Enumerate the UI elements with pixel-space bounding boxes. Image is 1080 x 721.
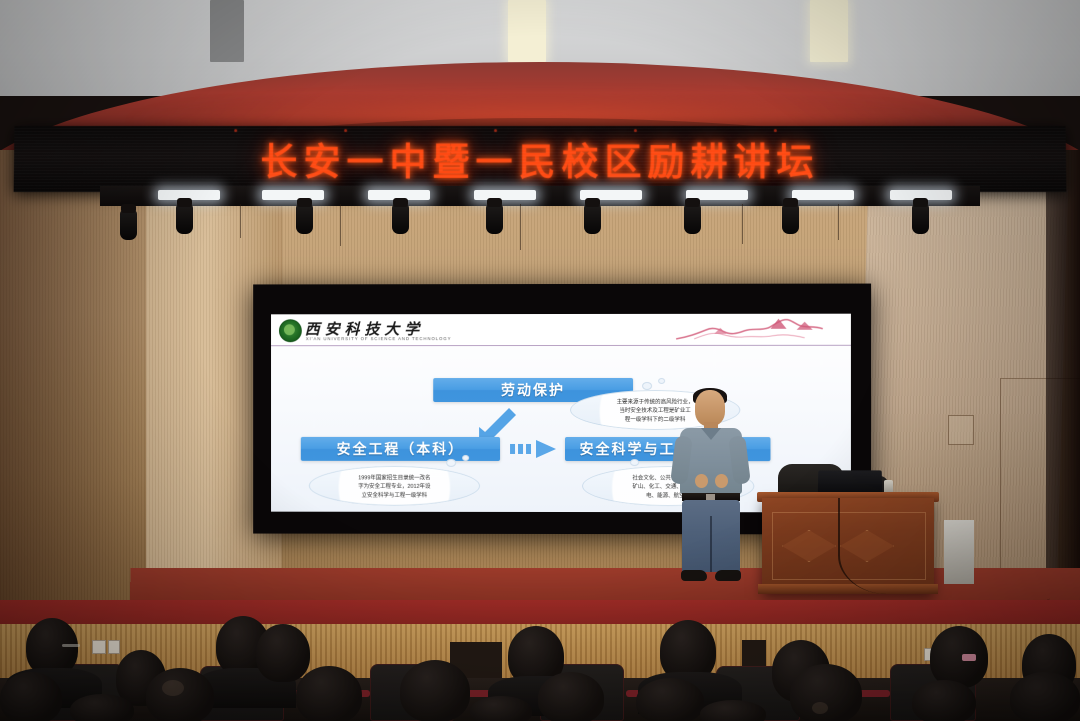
wall-switch (108, 640, 120, 654)
audience-head (470, 696, 532, 721)
audience-head (146, 668, 214, 721)
presenter-right-hand (715, 474, 728, 488)
presenter-right-shoe (715, 570, 741, 581)
callout-bubble (642, 382, 652, 390)
presenter (665, 390, 759, 585)
callout-line: 立安全科学与工程一级学科 (295, 490, 494, 499)
wall-access-panel (948, 415, 974, 445)
audience-head (930, 626, 988, 688)
floor-speaker (944, 520, 974, 584)
led-banner-text: 长安一中暨一民校区励耕讲坛 (14, 132, 1067, 186)
stage-spotlight (782, 204, 799, 234)
presentation-slide: 西安科技大学 XI'AN UNIVERSITY OF SCIENCE AND T… (271, 314, 851, 513)
audience-glasses-icon (62, 644, 80, 647)
stage-spotlight (296, 204, 313, 234)
stage-spotlight (584, 204, 601, 234)
audience-head (70, 694, 134, 721)
mountain-decoration-icon (674, 317, 825, 343)
podium-cable (838, 498, 960, 594)
spotlight-cable (742, 204, 743, 244)
auditorium-photo: 长安一中暨一民校区励耕讲坛 西安科技大学 XI'AN UNIVERSITY OF… (0, 0, 1080, 721)
led-banner: 长安一中暨一民校区励耕讲坛 (14, 126, 1067, 192)
truss-led-strip (474, 190, 536, 200)
spotlight-cable (340, 204, 341, 246)
hair-clip (962, 654, 976, 661)
slide-box-safety-engineering: 安全工程（本科） (301, 437, 500, 461)
audience-head (296, 666, 362, 721)
stage-right-curtain-edge (1046, 150, 1080, 620)
university-name-en: XI'AN UNIVERSITY OF SCIENCE AND TECHNOLO… (306, 336, 452, 342)
audience-upper-wall (0, 600, 1080, 626)
ceiling-panel-dark (210, 0, 244, 62)
university-logo-icon (279, 319, 302, 342)
audience-head (538, 672, 604, 721)
stage-spotlight (684, 204, 701, 234)
ceiling-light-panel (508, 0, 546, 62)
slide-header: 西安科技大学 XI'AN UNIVERSITY OF SCIENCE AND T… (271, 314, 851, 347)
stage-spotlight (176, 204, 193, 234)
audience-head (0, 672, 62, 721)
audience-head-highlight (812, 702, 828, 714)
audience-head (700, 700, 766, 721)
audience-head (256, 624, 310, 682)
stage-spotlight (486, 204, 503, 234)
wall-switch (92, 640, 106, 654)
callout-bubble (658, 378, 665, 384)
stage-spotlight (120, 210, 137, 240)
audience-head (400, 660, 470, 721)
audience-head-highlight (162, 680, 184, 696)
callout-line: 字为安全工程专业，2012年设 (295, 482, 494, 491)
truss-led-strip (262, 190, 324, 200)
spotlight-cable (838, 204, 839, 240)
callout-bubble (462, 455, 469, 461)
audience-head (912, 680, 976, 721)
callout-bubble (630, 459, 639, 466)
presenter-head (695, 390, 725, 426)
callout-line: 1999年国家招生目录统一改名 (295, 473, 494, 482)
audience-head (1010, 672, 1080, 721)
stage-spotlight (912, 204, 929, 234)
right-arrow-icon (510, 440, 558, 458)
callout-bubble (446, 459, 456, 467)
presenter-left-hand (695, 474, 708, 488)
callout-text-bottom-left: 1999年国家招生目录统一改名 字为安全工程专业，2012年设 立安全科学与工程… (295, 473, 494, 499)
audience-head (636, 678, 704, 721)
presenter-leg-seam (710, 516, 712, 572)
spotlight-cable (520, 204, 521, 250)
audience-head (790, 664, 862, 721)
stage-spotlight (392, 204, 409, 234)
presenter-left-shoe (681, 570, 707, 581)
spotlight-cable (240, 204, 241, 238)
truss-led-strip (792, 190, 854, 200)
ceiling-light-panel (810, 0, 848, 62)
wall-dark-recess (742, 640, 766, 666)
